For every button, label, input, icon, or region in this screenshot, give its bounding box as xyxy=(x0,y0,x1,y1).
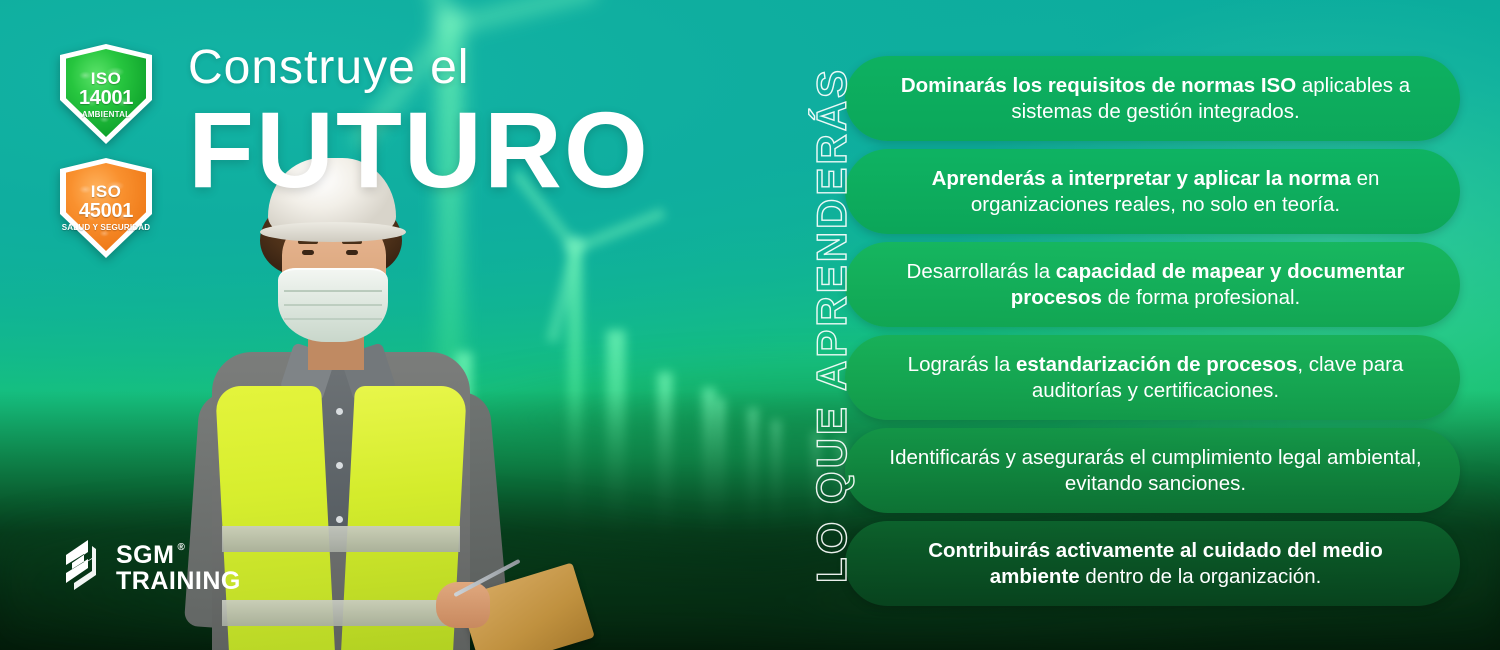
benefit-card-text: Contribuirás activamente al cuidado del … xyxy=(885,538,1426,590)
vest-reflective-stripe xyxy=(222,600,460,626)
vest-reflective-stripe xyxy=(222,526,460,552)
benefit-card[interactable]: Contribuirás activamente al cuidado del … xyxy=(845,521,1460,606)
badge-iso-subtitle: SALUD Y SEGURIDAD xyxy=(62,224,150,233)
vertical-section-label-text: LO QUE APRENDERÁS xyxy=(808,67,856,583)
registered-mark-icon: ® xyxy=(177,543,185,554)
logo-line-2: TRAINING xyxy=(116,568,241,594)
benefit-card[interactable]: Desarrollarás la capacidad de mapear y d… xyxy=(845,242,1460,327)
badge-iso-word: ISO xyxy=(62,183,150,200)
benefit-card-text: Aprenderás a interpretar y aplicar la no… xyxy=(885,166,1426,218)
badge-iso-45001: ISO 45001 SALUD Y SEGURIDAD xyxy=(60,158,152,258)
benefit-card-text: Desarrollarás la capacidad de mapear y d… xyxy=(885,259,1426,311)
face-mask-icon xyxy=(278,268,388,342)
sgm-training-logo[interactable]: SGM ® TRAINING xyxy=(58,538,241,598)
benefit-card-text: Dominarás los requisitos de normas ISO a… xyxy=(885,73,1426,125)
badge-iso-word: ISO xyxy=(79,70,133,87)
benefits-list: Dominarás los requisitos de normas ISO a… xyxy=(845,56,1460,614)
benefit-card[interactable]: Lograrás la estandarización de procesos,… xyxy=(845,335,1460,420)
certification-badges: ISO 14001 AMBIENTAL ISO 45001 SALUD Y SE… xyxy=(60,44,152,272)
benefit-card[interactable]: Dominarás los requisitos de normas ISO a… xyxy=(845,56,1460,141)
benefit-card[interactable]: Identificarás y asegurarás el cumplimien… xyxy=(845,428,1460,513)
worker-eye-right xyxy=(346,250,358,255)
headline-line-1: Construye el xyxy=(188,44,650,92)
benefit-card-text: Identificarás y asegurarás el cumplimien… xyxy=(885,445,1426,497)
headline-line-2: FUTURO xyxy=(188,96,650,204)
vertical-section-label: LO QUE APRENDERÁS xyxy=(792,0,872,650)
badge-iso-subtitle: AMBIENTAL xyxy=(79,111,133,119)
promo-banner: ISO 14001 AMBIENTAL ISO 45001 SALUD Y SE… xyxy=(0,0,1500,650)
badge-iso-number: 14001 xyxy=(79,88,133,108)
benefit-card[interactable]: Aprenderás a interpretar y aplicar la no… xyxy=(845,149,1460,234)
hard-hat-brim xyxy=(260,222,406,242)
logo-line-1: SGM xyxy=(116,542,174,568)
sgm-logo-mark-icon xyxy=(58,538,102,598)
benefit-card-text: Lograrás la estandarización de procesos,… xyxy=(885,352,1426,404)
worker-eye-left xyxy=(302,250,314,255)
badge-iso-14001: ISO 14001 AMBIENTAL xyxy=(60,44,152,144)
badge-iso-number: 45001 xyxy=(62,201,150,221)
headline-block: Construye el FUTURO xyxy=(188,44,650,204)
